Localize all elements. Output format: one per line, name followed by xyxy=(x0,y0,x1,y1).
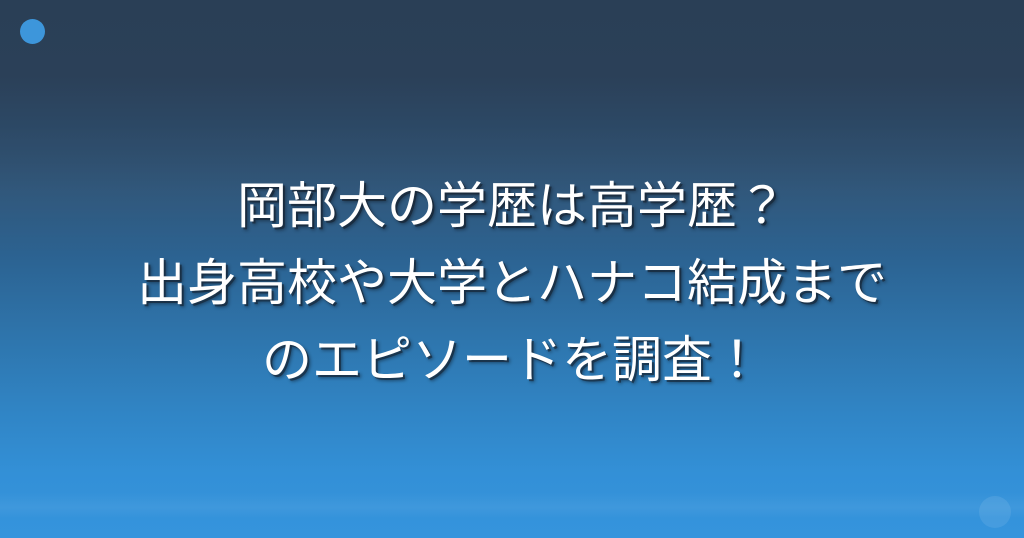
headline-line-3: のエピソードを調査！ xyxy=(0,322,1024,399)
headline-line-2: 出身高校や大学とハナコ結成まで xyxy=(0,245,1024,322)
bottom-light-band xyxy=(0,492,1024,518)
eyecatch-canvas: 岡部大の学歴は高学歴？ 出身高校や大学とハナコ結成まで のエピソードを調査！ xyxy=(0,0,1024,538)
headline: 岡部大の学歴は高学歴？ 出身高校や大学とハナコ結成まで のエピソードを調査！ xyxy=(0,168,1024,399)
headline-line-1: 岡部大の学歴は高学歴？ xyxy=(0,168,1024,245)
bottom-right-dot-icon xyxy=(979,496,1011,528)
top-left-dot-icon xyxy=(20,19,45,44)
